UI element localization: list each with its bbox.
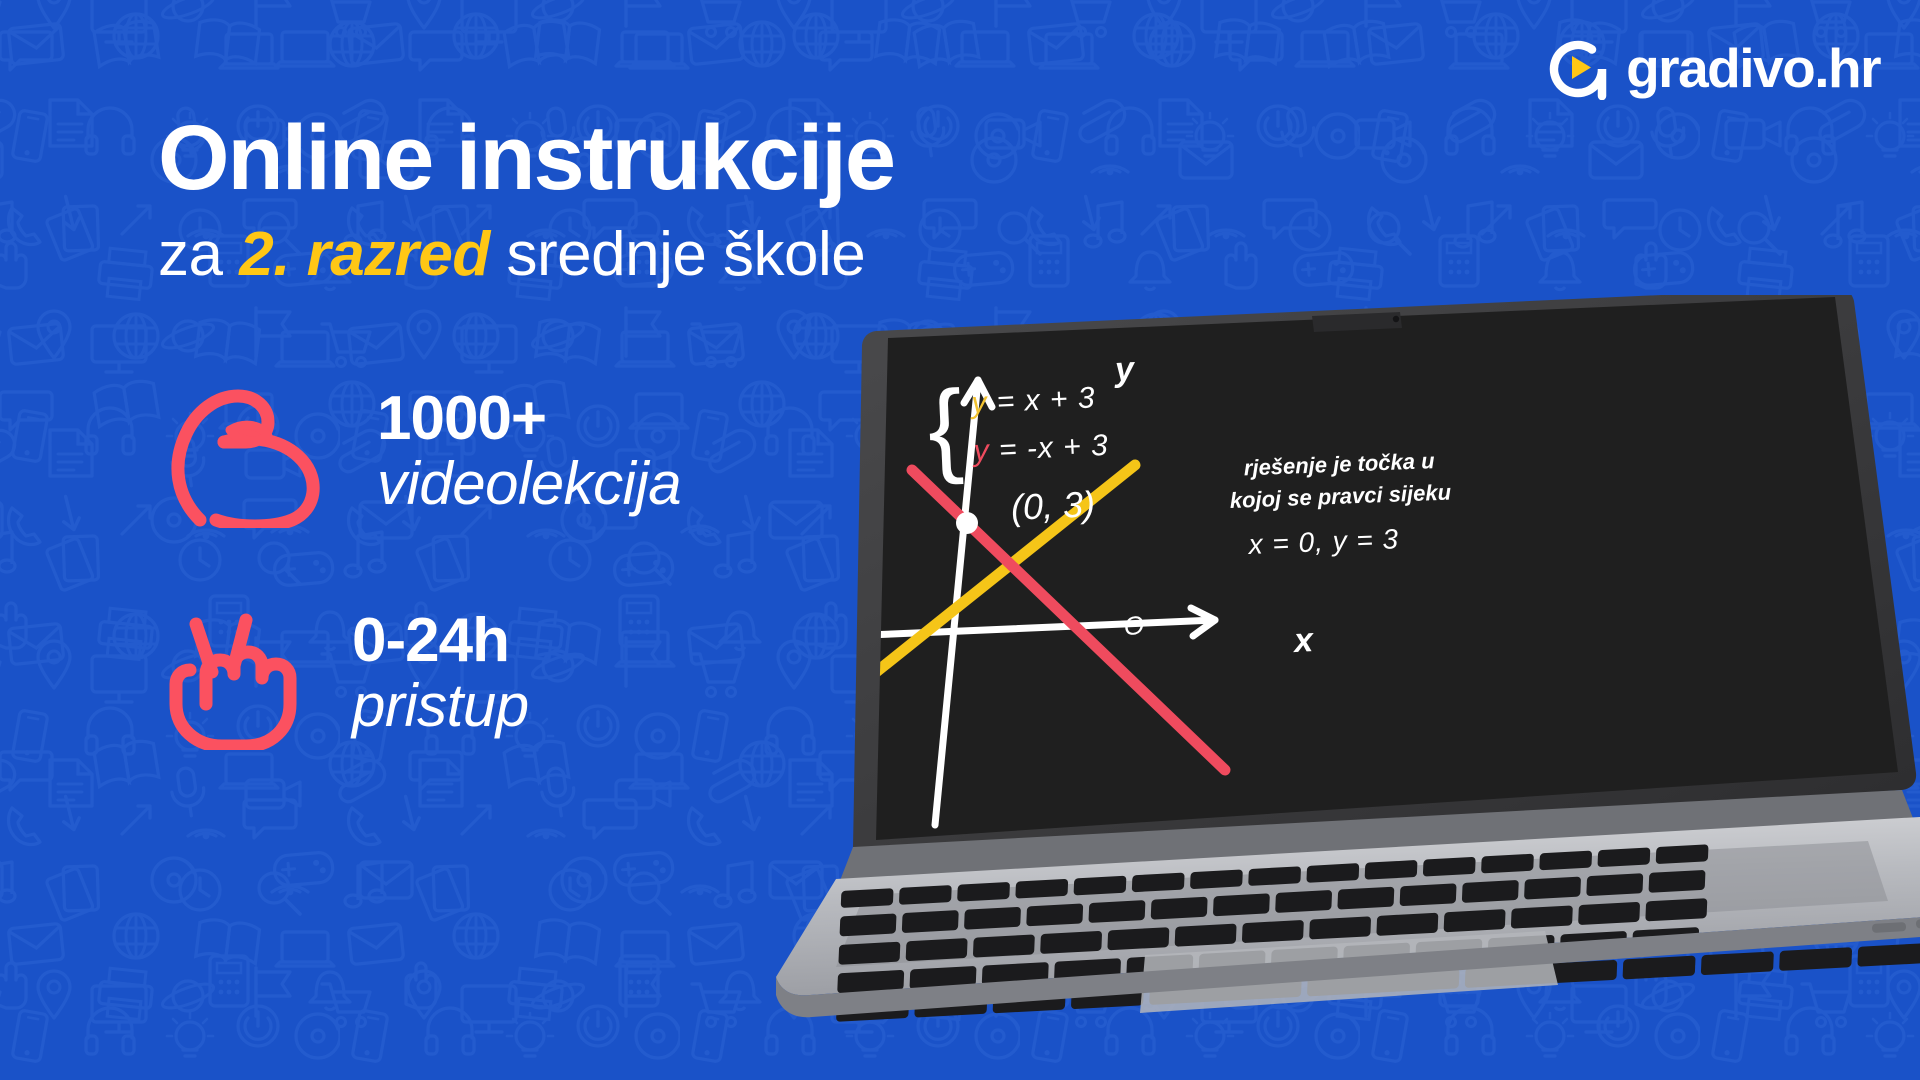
feature-text-block: 1000+ videolekcija (377, 388, 681, 517)
feature-label: pristup (352, 672, 529, 739)
feature-label: videolekcija (377, 450, 681, 517)
logo-wordmark: gradivo.hr (1626, 41, 1880, 96)
brand-logo[interactable]: gradivo.hr (1546, 36, 1880, 100)
laptop-svg (640, 295, 1920, 1080)
flexed-biceps-icon (160, 378, 335, 528)
feature-value: 1000+ (377, 388, 681, 450)
laptop-screen (876, 297, 1898, 840)
feature-text-block: 0-24h pristup (352, 610, 529, 739)
feature-value: 0-24h (352, 610, 529, 672)
feature-list: 1000+ videolekcija 0-24h pristup (160, 378, 681, 750)
feature-item-pristup: 0-24h pristup (160, 600, 681, 750)
feature-item-videolekcija: 1000+ videolekcija (160, 378, 681, 528)
subtitle-prefix: za (158, 220, 239, 289)
subtitle-emphasis: 2. razred (239, 220, 490, 289)
subtitle-suffix: srednje škole (490, 220, 866, 289)
laptop-mockup: { y = x + 3 y = -x + 3 (0, 3) (640, 295, 1920, 1080)
hero-text-block: Online instrukcije za 2. razred srednje … (158, 112, 1058, 287)
webcam-icon (1393, 316, 1399, 322)
victory-hand-icon (160, 600, 310, 750)
page-title: Online instrukcije (158, 112, 1058, 204)
gradivo-play-circle-icon (1546, 36, 1610, 100)
page-subtitle: za 2. razred srednje škole (158, 222, 1058, 287)
graph-intersection-point (956, 512, 978, 534)
promo-banner: gradivo.hr Online instrukcije za 2. razr… (0, 0, 1920, 1080)
